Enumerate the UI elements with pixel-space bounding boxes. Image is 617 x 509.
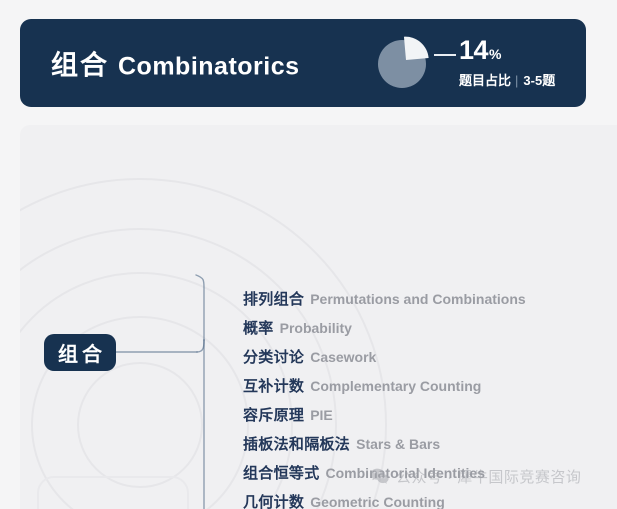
pie-caption-range: 3-5题	[523, 73, 555, 88]
topic-label-en: PIE	[310, 407, 333, 423]
page-root: 组合Combinatorics 14% 题目占比|3-5题	[0, 0, 617, 509]
topic-label-en: Permutations and Combinations	[310, 291, 525, 307]
mindmap-root-label: 组合	[54, 338, 106, 367]
topic-row[interactable]: 组合恒等式Combinatorial Identities	[243, 459, 613, 488]
topic-label-en: Complementary Counting	[310, 378, 481, 394]
pie-chart-icon	[375, 34, 433, 92]
topic-row[interactable]: 分类讨论Casework	[243, 343, 613, 372]
topic-label-en: Casework	[310, 349, 376, 365]
topic-row[interactable]: 插板法和隔板法Stars & Bars	[243, 430, 613, 459]
mindmap-root-node[interactable]: 组合	[44, 334, 116, 371]
percent-readout: 14%	[459, 37, 555, 64]
page-title-cn: 组合	[51, 51, 109, 81]
topic-label-cn: 概率	[243, 320, 274, 337]
topic-label-cn: 互补计数	[243, 378, 304, 395]
topic-label-cn: 排列组合	[243, 291, 304, 308]
page-title: 组合Combinatorics	[51, 44, 300, 83]
topic-label-en: Combinatorial Identities	[326, 465, 485, 481]
topic-row[interactable]: 容斥原理PIE	[243, 401, 613, 430]
topic-row[interactable]: 几何计数Geometric Counting	[243, 488, 613, 509]
pie-caption: 题目占比|3-5题	[459, 70, 555, 89]
topic-label-cn: 分类讨论	[243, 349, 304, 366]
topic-label-en: Probability	[280, 320, 352, 336]
mindmap-card: 组合 排列组合Permutations and Combinations概率Pr…	[20, 125, 617, 509]
pie-stats: 14% 题目占比|3-5题	[459, 37, 555, 89]
pie-caption-divider: |	[515, 73, 518, 88]
topic-row[interactable]: 互补计数Complementary Counting	[243, 372, 613, 401]
topic-label-en: Geometric Counting	[310, 494, 445, 509]
topic-label-cn: 容斥原理	[243, 407, 304, 424]
topic-row[interactable]: 排列组合Permutations and Combinations	[243, 285, 613, 314]
topic-label-cn: 几何计数	[243, 494, 304, 509]
topic-label-cn: 插板法和隔板法	[243, 436, 350, 453]
pie-caption-label: 题目占比	[459, 73, 511, 88]
percent-sign: %	[489, 46, 501, 62]
topic-label-en: Stars & Bars	[356, 436, 440, 452]
percent-value: 14	[459, 35, 488, 65]
pie-leader-line	[434, 54, 456, 56]
header-banner: 组合Combinatorics 14% 题目占比|3-5题	[20, 19, 586, 107]
mindmap-connector	[116, 270, 226, 509]
topic-row[interactable]: 概率Probability	[243, 314, 613, 343]
pie-stat-block: 14% 题目占比|3-5题	[375, 34, 555, 92]
topic-list: 排列组合Permutations and Combinations概率Proba…	[243, 285, 613, 509]
topic-label-cn: 组合恒等式	[243, 465, 320, 482]
page-title-en: Combinatorics	[118, 53, 300, 81]
